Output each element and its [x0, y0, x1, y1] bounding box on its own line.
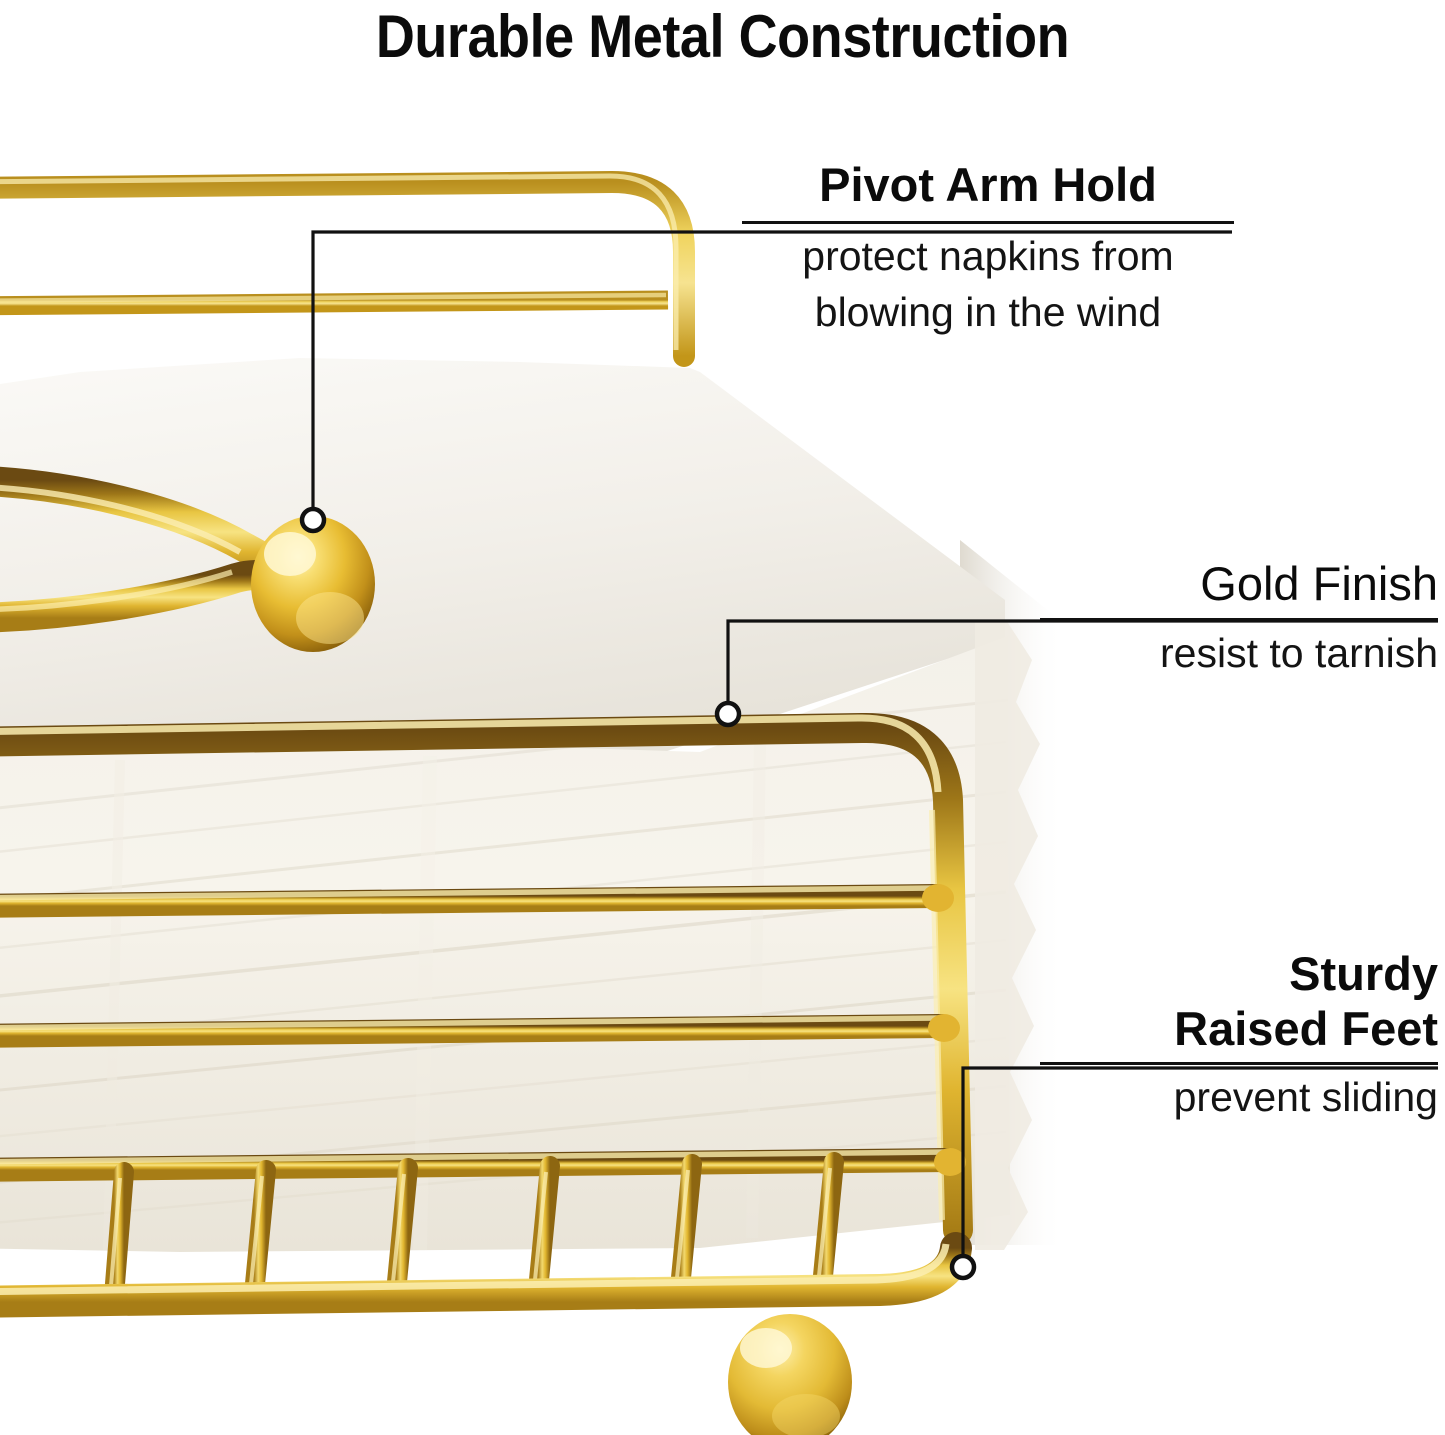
callout-subtitle-line2-pivot-arm-hold: blowing in the wind [742, 280, 1234, 336]
callout-title-pivot-arm-hold: Pivot Arm Hold [742, 156, 1234, 214]
page-title: Durable Metal Construction [72, 2, 1373, 72]
callout-subtitle-gold-finish: resist to tarnish [1040, 621, 1438, 677]
callout-title-line2-sturdy-raised-feet: Raised Feet [1040, 1001, 1438, 1056]
callout-subtitle-sturdy-raised-feet: prevent sliding [1040, 1065, 1438, 1121]
callout-dot-icon-gold-finish [717, 703, 739, 725]
callout-sturdy-raised-feet: Sturdy Raised Feet prevent sliding [1040, 946, 1438, 1121]
callout-gold-finish: Gold Finish resist to tarnish [1040, 556, 1438, 677]
callout-title-line1-sturdy-raised-feet: Sturdy [1040, 946, 1438, 1001]
infographic-canvas: Durable Metal Construction Pivot Arm Hol… [0, 0, 1445, 1435]
callout-title-gold-finish: Gold Finish [1040, 556, 1438, 612]
callout-dot-icon-pivot-arm-hold [302, 509, 324, 531]
callout-subtitle-line1-pivot-arm-hold: protect napkins from [742, 224, 1234, 280]
callout-dot-icon-sturdy-raised-feet [952, 1256, 974, 1278]
callout-pivot-arm-hold: Pivot Arm Hold protect napkins from blow… [742, 156, 1234, 336]
